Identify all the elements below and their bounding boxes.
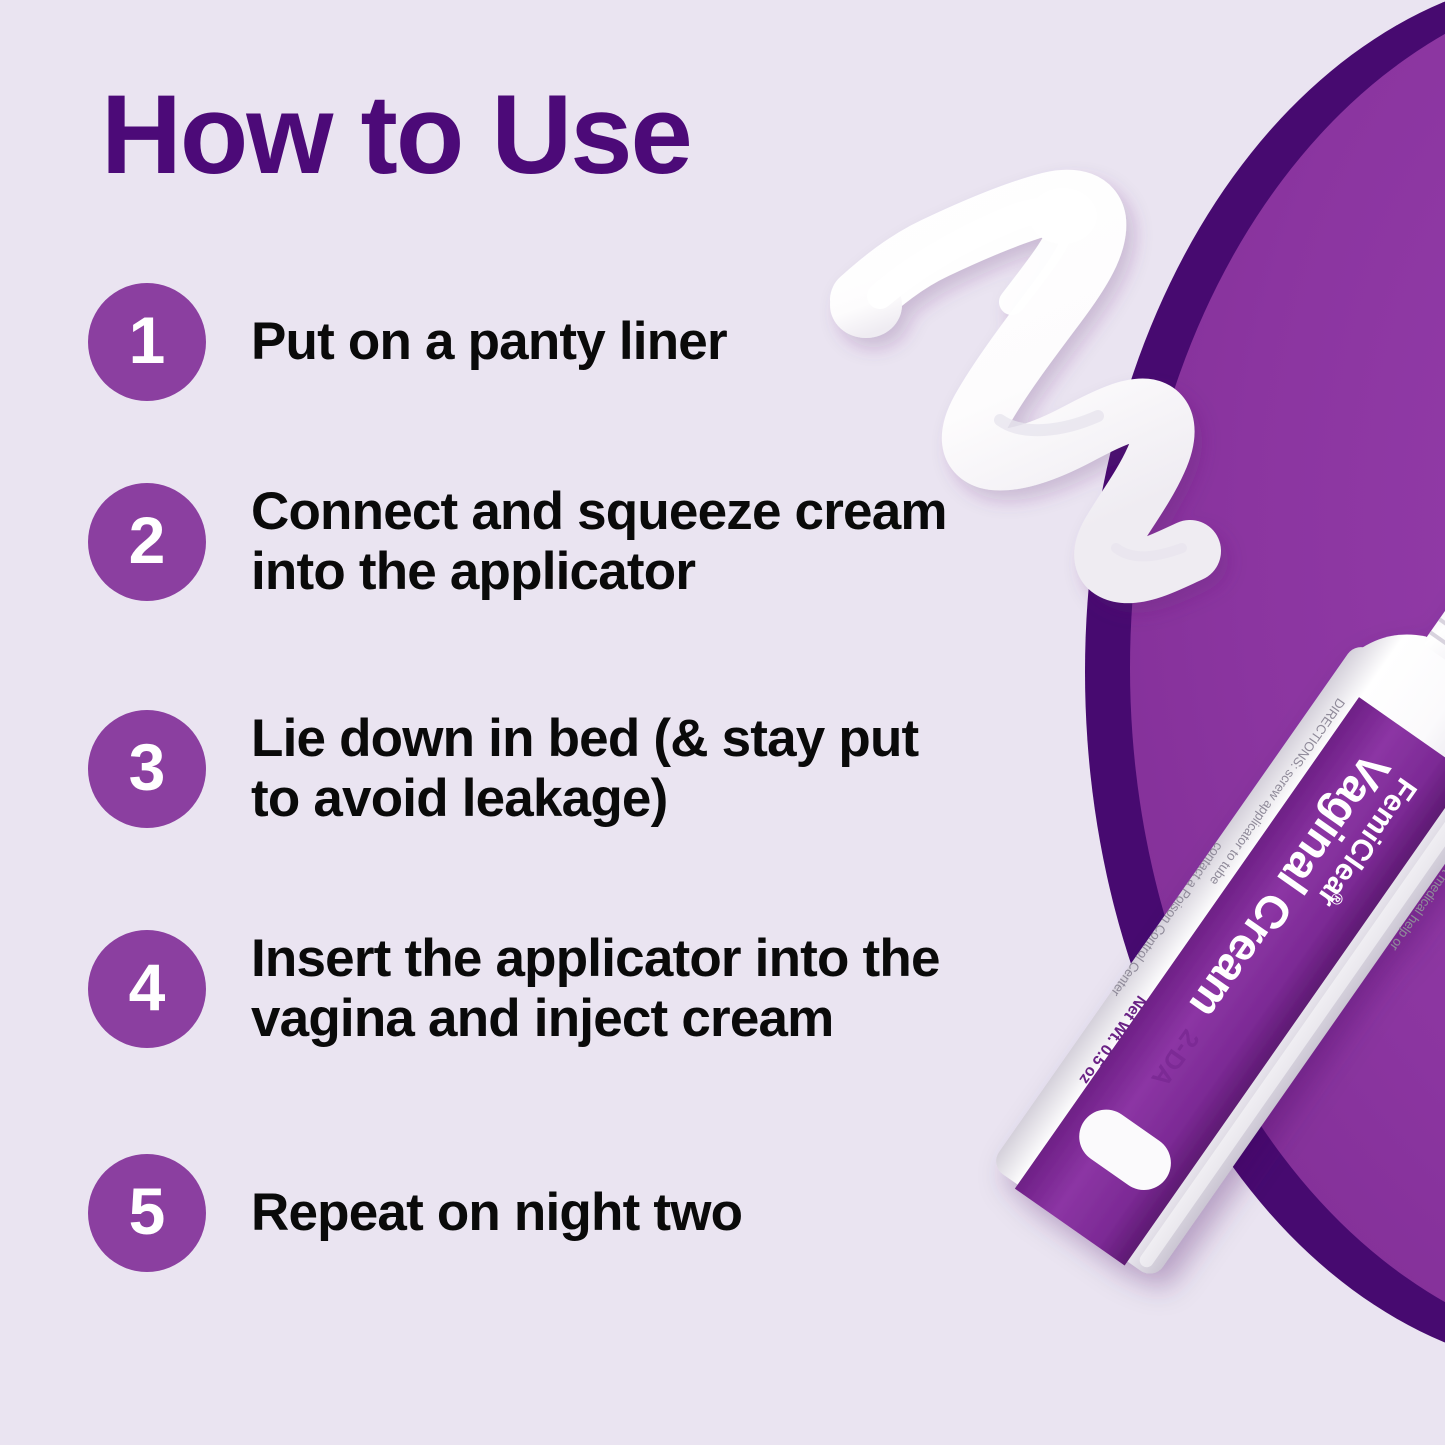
step-text: Connect and squeeze cream into the appli… — [251, 482, 947, 603]
list-item: 4 Insert the applicator into the vagina … — [88, 929, 940, 1050]
step-text: Repeat on night two — [251, 1183, 742, 1242]
step-number-badge: 2 — [88, 483, 206, 601]
step-number-badge: 4 — [88, 930, 206, 1048]
step-number-badge: 5 — [88, 1154, 206, 1272]
step-number-badge: 1 — [88, 283, 206, 401]
list-item: 2 Connect and squeeze cream into the app… — [88, 482, 947, 603]
step-text: Put on a panty liner — [251, 312, 727, 371]
step-number-badge: 3 — [88, 710, 206, 828]
step-text: Insert the applicator into the vagina an… — [251, 929, 940, 1050]
list-item: 1 Put on a panty liner — [88, 283, 727, 401]
list-item: 3 Lie down in bed (& stay put to avoid l… — [88, 709, 918, 830]
step-text: Lie down in bed (& stay put to avoid lea… — [251, 709, 918, 830]
page-title: How to Use — [101, 79, 691, 191]
list-item: 5 Repeat on night two — [88, 1154, 742, 1272]
